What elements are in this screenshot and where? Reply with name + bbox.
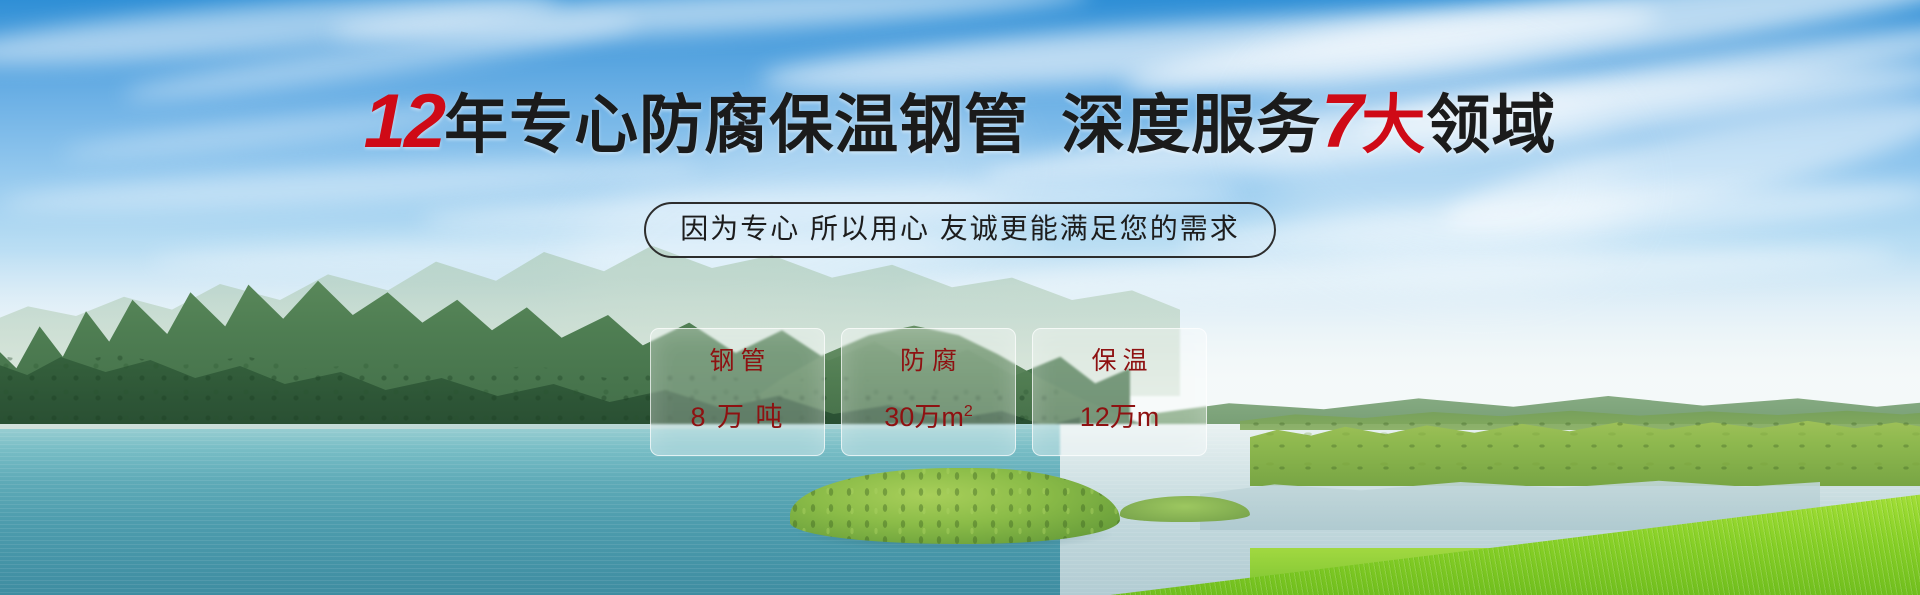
- stat-card-value: 12万m: [1080, 404, 1160, 431]
- banner-subtitle: 因为专心 所以用心 友诚更能满足您的需求: [644, 202, 1276, 258]
- stat-card-value-superscript: 2: [964, 403, 973, 420]
- stat-card-insulation[interactable]: 保温 12万m: [1032, 328, 1207, 456]
- headline-fields-tail: 领域: [1426, 89, 1556, 161]
- wetland-texture: [1250, 418, 1920, 484]
- stat-card-value: 8 万 吨: [690, 404, 784, 431]
- stat-card-anticorrosion[interactable]: 防腐 30万m2: [841, 328, 1016, 456]
- hero-banner: 12年专心防腐保温钢管深度服务7大领域 因为专心 所以用心 友诚更能满足您的需求…: [0, 0, 1920, 595]
- stat-cards: 钢管 8 万 吨 防腐 30万m2 保温 12万m: [650, 328, 1207, 456]
- stat-card-value: 30万m2: [884, 404, 972, 431]
- stat-card-value-main: 12万m: [1080, 402, 1160, 432]
- stat-card-steel-pipe[interactable]: 钢管 8 万 吨: [650, 328, 825, 456]
- stat-card-value-main: 8 万 吨: [690, 402, 784, 432]
- headline-fields-red-suffix: 大: [1361, 89, 1426, 161]
- stat-card-value-main: 30万m: [884, 402, 964, 432]
- stat-card-label: 保温: [1085, 349, 1153, 374]
- headline-second-part: 深度服务: [1061, 89, 1321, 161]
- stat-card-label: 钢管: [703, 349, 771, 374]
- banner-subtitle-wrap: 因为专心 所以用心 友诚更能满足您的需求: [0, 202, 1920, 258]
- headline-years-number: 12: [364, 79, 445, 164]
- banner-headline: 12年专心防腐保温钢管深度服务7大领域: [0, 84, 1920, 160]
- headline-main-text: 年专心防腐保温钢管: [444, 89, 1029, 161]
- headline-fields-number: 7: [1321, 79, 1361, 164]
- stat-card-label: 防腐: [893, 349, 964, 374]
